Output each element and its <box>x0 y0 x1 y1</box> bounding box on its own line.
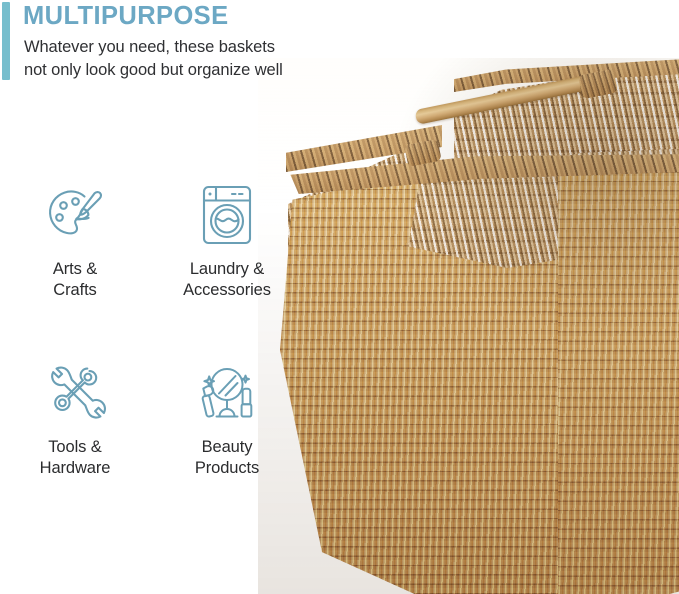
product-photo-woven-basket <box>258 58 679 594</box>
paint-palette-icon <box>0 180 150 250</box>
feature-label: Tools & Hardware <box>0 437 150 479</box>
accent-bar <box>2 2 10 80</box>
feature-item-tools-hardware: Tools & Hardware <box>0 358 150 479</box>
feature-grid: Arts & Crafts Laundry & Accessories <box>0 180 300 510</box>
infographic-page: MULTIPURPOSE Whatever you need, these ba… <box>0 0 679 594</box>
page-title: MULTIPURPOSE <box>23 1 229 31</box>
crossed-wrenches-icon <box>0 358 150 428</box>
page-subtitle: Whatever you need, these baskets not onl… <box>24 36 283 81</box>
feature-label: Arts & Crafts <box>0 259 150 301</box>
basket-right-wall <box>558 154 679 594</box>
feature-item-arts-crafts: Arts & Crafts <box>0 180 150 301</box>
